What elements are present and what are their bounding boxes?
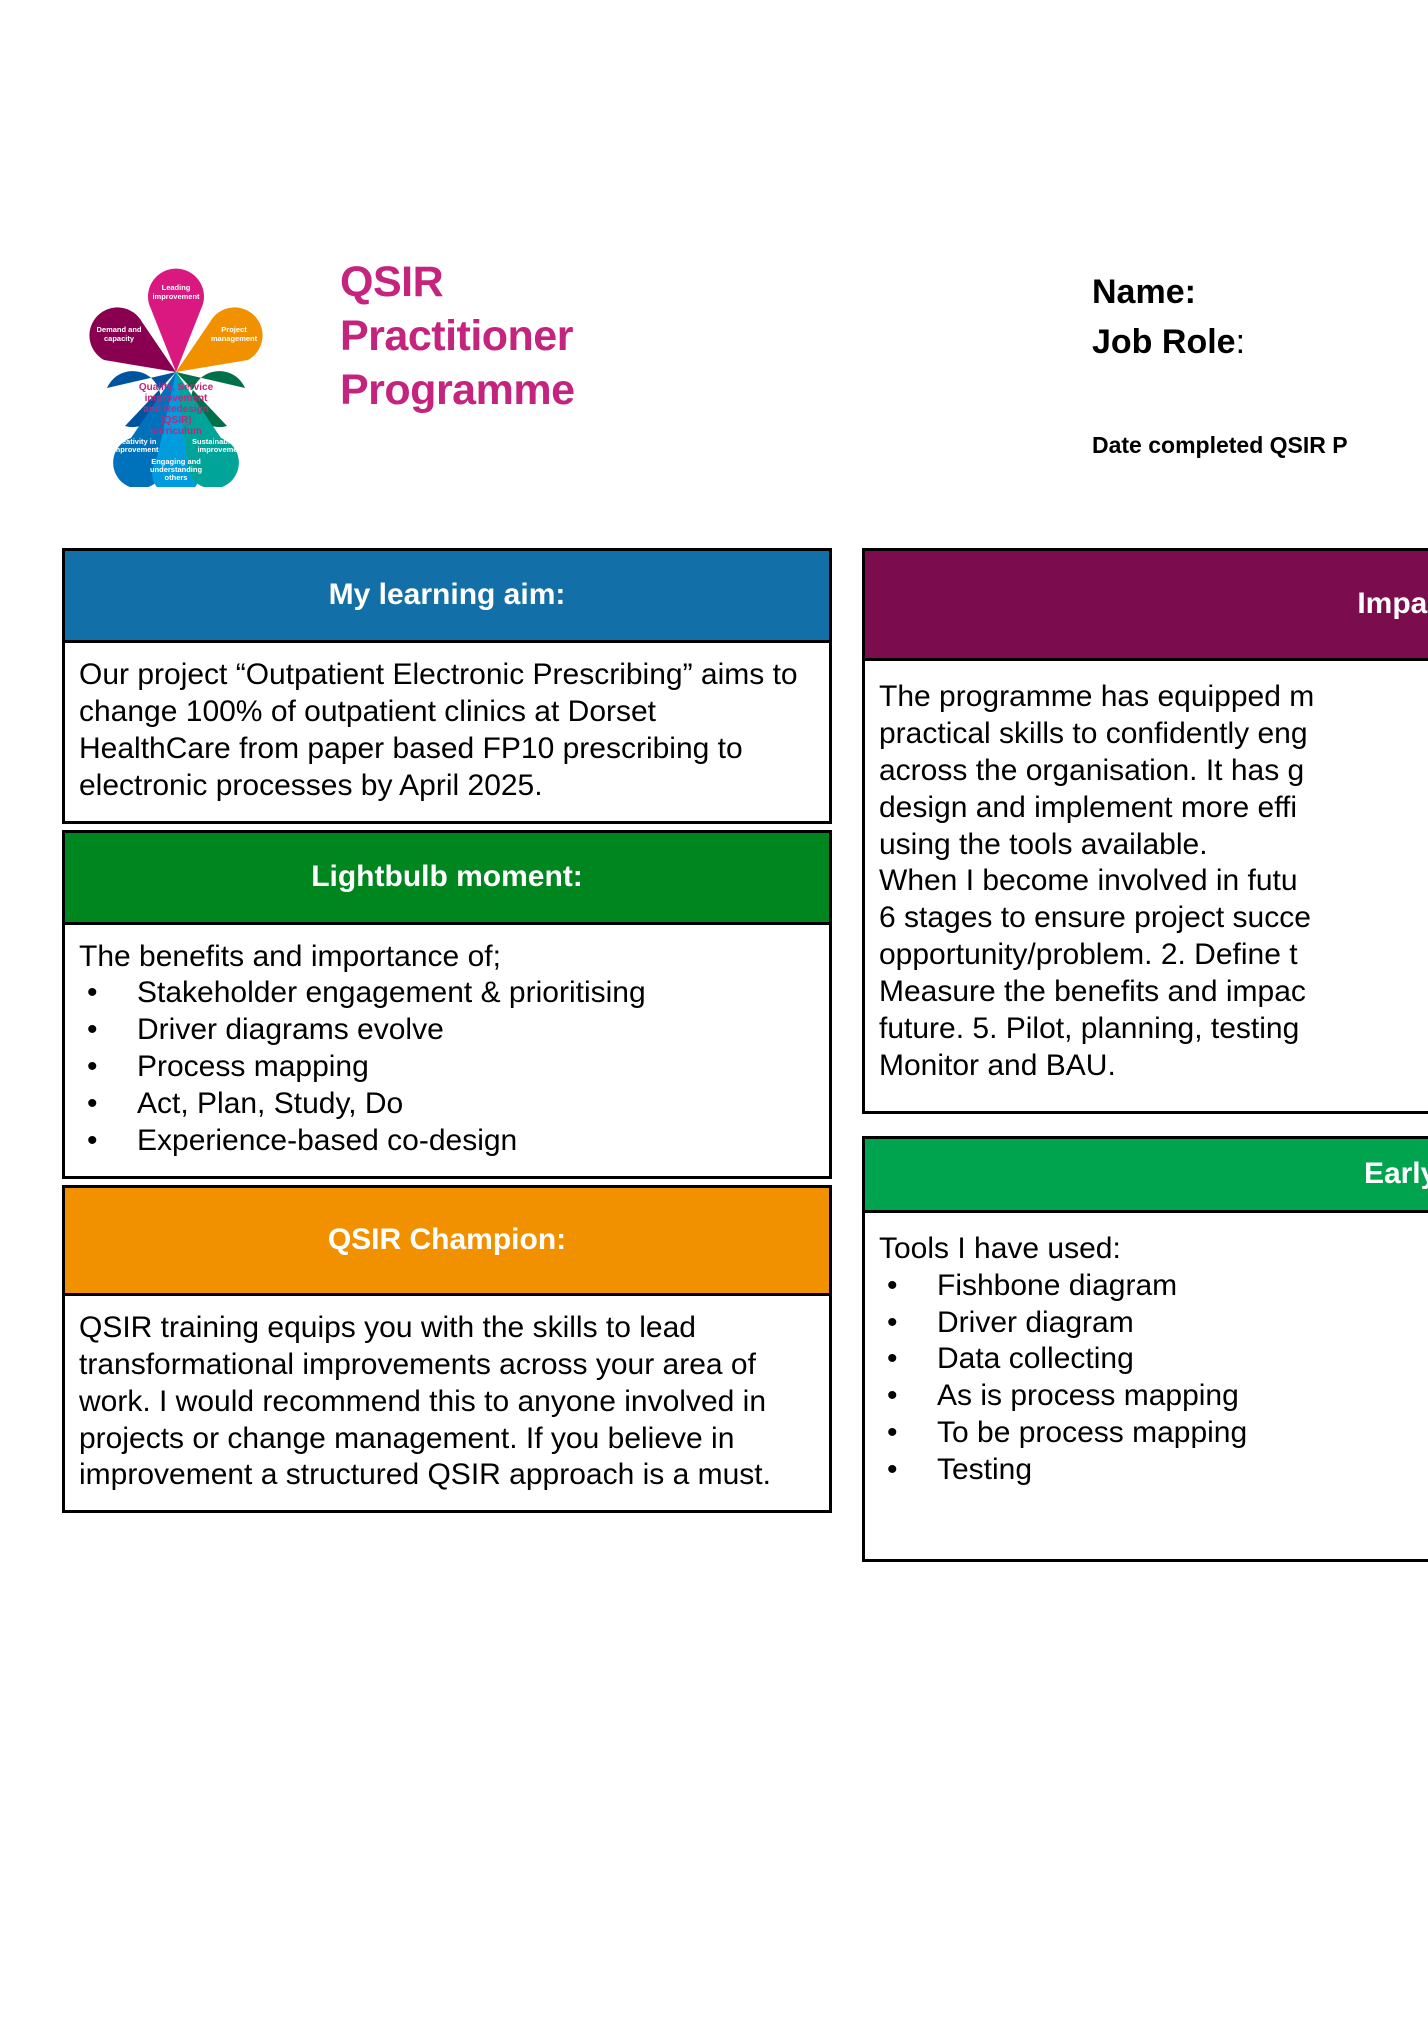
list-item: Testing [879,1452,1428,1489]
petal-label-leading-improvement: Leading [162,283,191,292]
list-item: Stakeholder engagement & prioritising [79,975,815,1012]
page-title-line-2: Practitioner [340,309,670,363]
impact-line: using the tools available. [879,827,1428,864]
petal-label-sustainability-2: improvement [197,445,245,454]
date-completed-label: Date completed QSIR P [1092,432,1348,459]
impact-line: 6 stages to ensure project succe [879,900,1428,937]
tools-bullet-list: Fishbone diagram Driver diagram Data col… [879,1268,1428,1489]
svg-text:improvement: improvement [145,393,208,404]
job-role-field: Job Role: [1092,318,1428,368]
impact-line: future. 5. Pilot, planning, testing [879,1011,1428,1048]
card-header-my-learning-aim: My learning aim: [65,551,829,643]
card-header-lightbulb-moment: Lightbulb moment: [65,833,829,925]
list-item: Driver diagrams evolve [79,1012,815,1049]
impact-line: Measure the benefits and impac [879,974,1428,1011]
impact-line: across the organisation. It has g [879,753,1428,790]
svg-text:and Redesign: and Redesign [143,404,209,415]
impact-line: opportunity/problem. 2. Define t [879,937,1428,974]
card-body-my-learning-aim: Our project “Outpatient Electronic Presc… [65,643,829,821]
card-lightbulb-moment: Lightbulb moment: The benefits and impor… [62,830,832,1179]
petal-label-project-management: Project [221,325,247,334]
petal-label-creativity-2: improvement [111,445,159,454]
card-header-qsir-champion: QSIR Champion: [65,1188,829,1296]
page-title-line-1: QSIR [340,255,670,309]
petal-label-demand-and-capacity: Demand and [96,325,141,334]
impact-line: practical skills to confidently eng [879,716,1428,753]
list-item: To be process mapping [879,1415,1428,1452]
petal-label-demand-and-capacity-2: capacity [104,334,135,343]
card-impact-on: Impact on The programme has equipped m p… [862,548,1428,1114]
page-header: Leading improvement Demand and capacity … [0,0,1428,520]
list-item: Experience-based co-design [79,1123,815,1160]
card-body-lightbulb-moment: The benefits and importance of; Stakehol… [65,925,829,1176]
petal-label-project-management-2: management [211,334,258,343]
flower-logo-svg: Leading improvement Demand and capacity … [45,232,307,487]
page-title-line-3: Programme [340,363,670,417]
card-header-impact-on: Impact on [865,551,1428,661]
qsir-champion-paragraph: QSIR training equips you with the skills… [79,1310,815,1494]
list-item: Act, Plan, Study, Do [79,1086,815,1123]
impact-line: Monitor and BAU. [879,1048,1428,1085]
card-qsir-champion: QSIR Champion: QSIR training equips you … [62,1185,832,1513]
impact-line: When I become involved in futu [879,863,1428,900]
list-item: As is process mapping [879,1378,1428,1415]
petal-label-engaging-3: others [165,473,188,482]
card-body-impact-on: The programme has equipped m practical s… [865,661,1428,1111]
name-field-label: Name: [1092,268,1428,318]
petal-label-leading-improvement-2: improvement [152,292,200,301]
petal-label-process-mapping: Process mapping [72,391,135,400]
card-header-early-application: Early app [865,1139,1428,1213]
right-column: Impact on The programme has equipped m p… [862,548,1428,1562]
identity-block: Name: Job Role: [1092,268,1428,367]
card-my-learning-aim: My learning aim: Our project “Outpatient… [62,548,832,824]
petal-label-measurement-2: improvement [225,397,273,406]
card-body-qsir-champion: QSIR training equips you with the skills… [65,1296,829,1510]
left-column: My learning aim: Our project “Outpatient… [62,548,832,1513]
petal-label-measurement: Measurement for [219,388,280,397]
svg-text:curriculum: curriculum [150,426,202,437]
list-item: Driver diagram [879,1305,1428,1342]
card-early-application: Early app Tools I have used: Fishbone di… [862,1136,1428,1562]
list-item: Data collecting [879,1341,1428,1378]
card-body-early-application: Tools I have used: Fishbone diagram Driv… [865,1213,1428,1559]
learning-aim-paragraph: Our project “Outpatient Electronic Presc… [79,657,815,805]
svg-text:(QSIR): (QSIR) [160,415,191,426]
job-role-field-label: Job Role [1092,323,1236,361]
lightbulb-intro: The benefits and importance of; [79,939,815,976]
tools-intro: Tools I have used: [879,1231,1428,1268]
impact-line: The programme has equipped m [879,679,1428,716]
list-item: Process mapping [79,1049,815,1086]
qsir-curriculum-flower-logo: Leading improvement Demand and capacity … [45,232,307,487]
svg-text:Quality, Service: Quality, Service [139,382,214,393]
job-role-colon: : [1236,323,1245,361]
lightbulb-bullet-list: Stakeholder engagement & prioritising Dr… [79,975,815,1159]
impact-line: design and implement more effi [879,790,1428,827]
list-item: Fishbone diagram [879,1268,1428,1305]
page-title: QSIR Practitioner Programme [340,255,670,418]
